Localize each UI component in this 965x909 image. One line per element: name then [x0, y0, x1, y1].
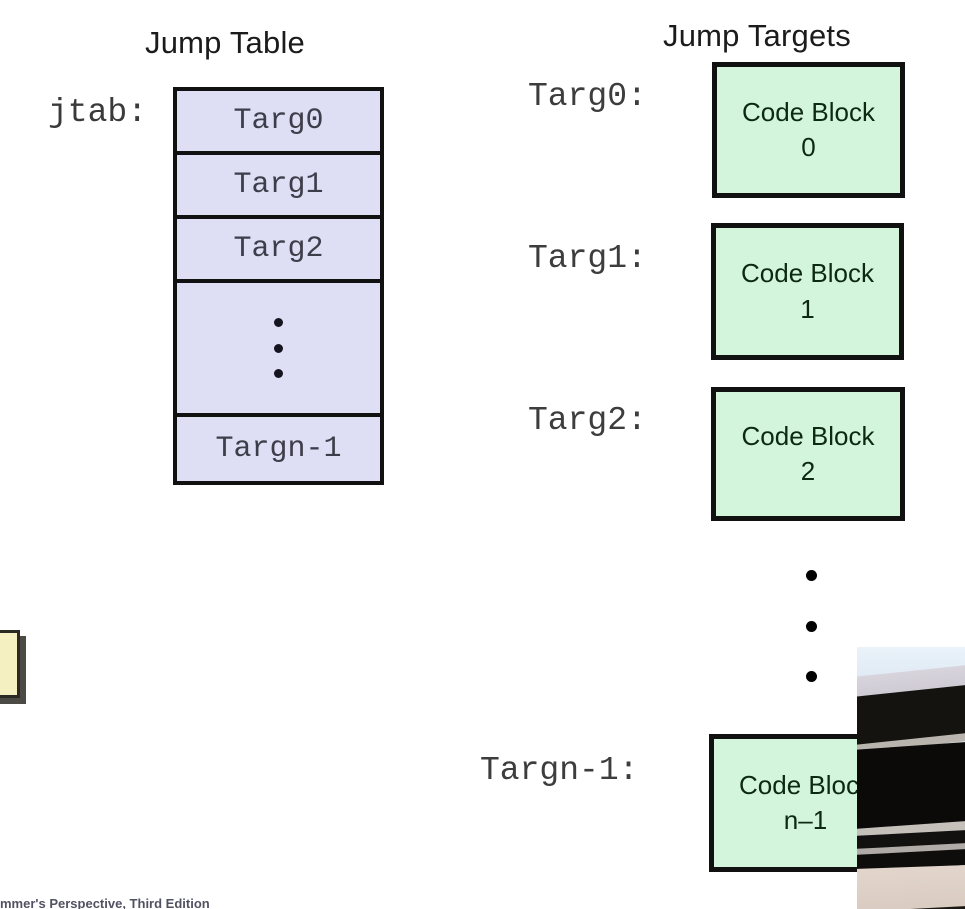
sticky-note-partial — [0, 630, 20, 698]
ellipsis-dot-icon — [806, 671, 817, 682]
code-block-0-line1: Code Block — [742, 95, 875, 130]
jump-table-cell-targ1: Targ1 — [177, 155, 380, 219]
ellipsis-dot-icon — [274, 318, 283, 327]
target-label-targ0: Targ0: — [528, 78, 647, 115]
code-block-0-line2: 0 — [801, 130, 815, 165]
slide-canvas: Jump Table jtab: Targ0 Targ1 Targ2 Targn… — [0, 0, 965, 909]
jump-table-cell-targ0: Targ0 — [177, 91, 380, 155]
code-block-n-1-line2: n–1 — [784, 803, 827, 838]
code-block-1: Code Block 1 — [711, 223, 904, 360]
webcam-band — [857, 864, 965, 909]
jump-table-heading: Jump Table — [145, 25, 305, 61]
jump-targets-heading: Jump Targets — [663, 18, 851, 54]
webcam-pip-overlay[interactable] — [857, 647, 965, 909]
target-label-targn-1: Targn-1: — [480, 752, 638, 789]
code-block-2-line1: Code Block — [742, 419, 875, 454]
target-label-targ1: Targ1: — [528, 240, 647, 277]
code-block-1-line2: 1 — [800, 292, 814, 327]
ellipsis-dot-icon — [274, 344, 283, 353]
code-block-1-line1: Code Block — [741, 256, 874, 291]
ellipsis-dot-icon — [274, 369, 283, 378]
target-label-targ2: Targ2: — [528, 402, 647, 439]
jump-targets-ellipsis — [804, 570, 818, 682]
jump-table-cell-targ2: Targ2 — [177, 219, 380, 283]
jtab-pointer-label: jtab: — [48, 94, 147, 131]
ellipsis-dot-icon — [806, 570, 817, 581]
code-block-n-1-line1: Code Block — [739, 768, 872, 803]
jump-table-cell-targn-1: Targn-1 — [177, 417, 380, 481]
code-block-2: Code Block 2 — [711, 387, 905, 521]
slide-footer: mmer's Perspective, Third Edition — [0, 896, 210, 909]
code-block-2-line2: 2 — [801, 454, 815, 489]
code-block-0: Code Block 0 — [712, 62, 905, 198]
jump-table: Targ0 Targ1 Targ2 Targn-1 — [173, 87, 384, 485]
ellipsis-dot-icon — [806, 621, 817, 632]
jump-table-cell-ellipsis — [177, 283, 380, 417]
